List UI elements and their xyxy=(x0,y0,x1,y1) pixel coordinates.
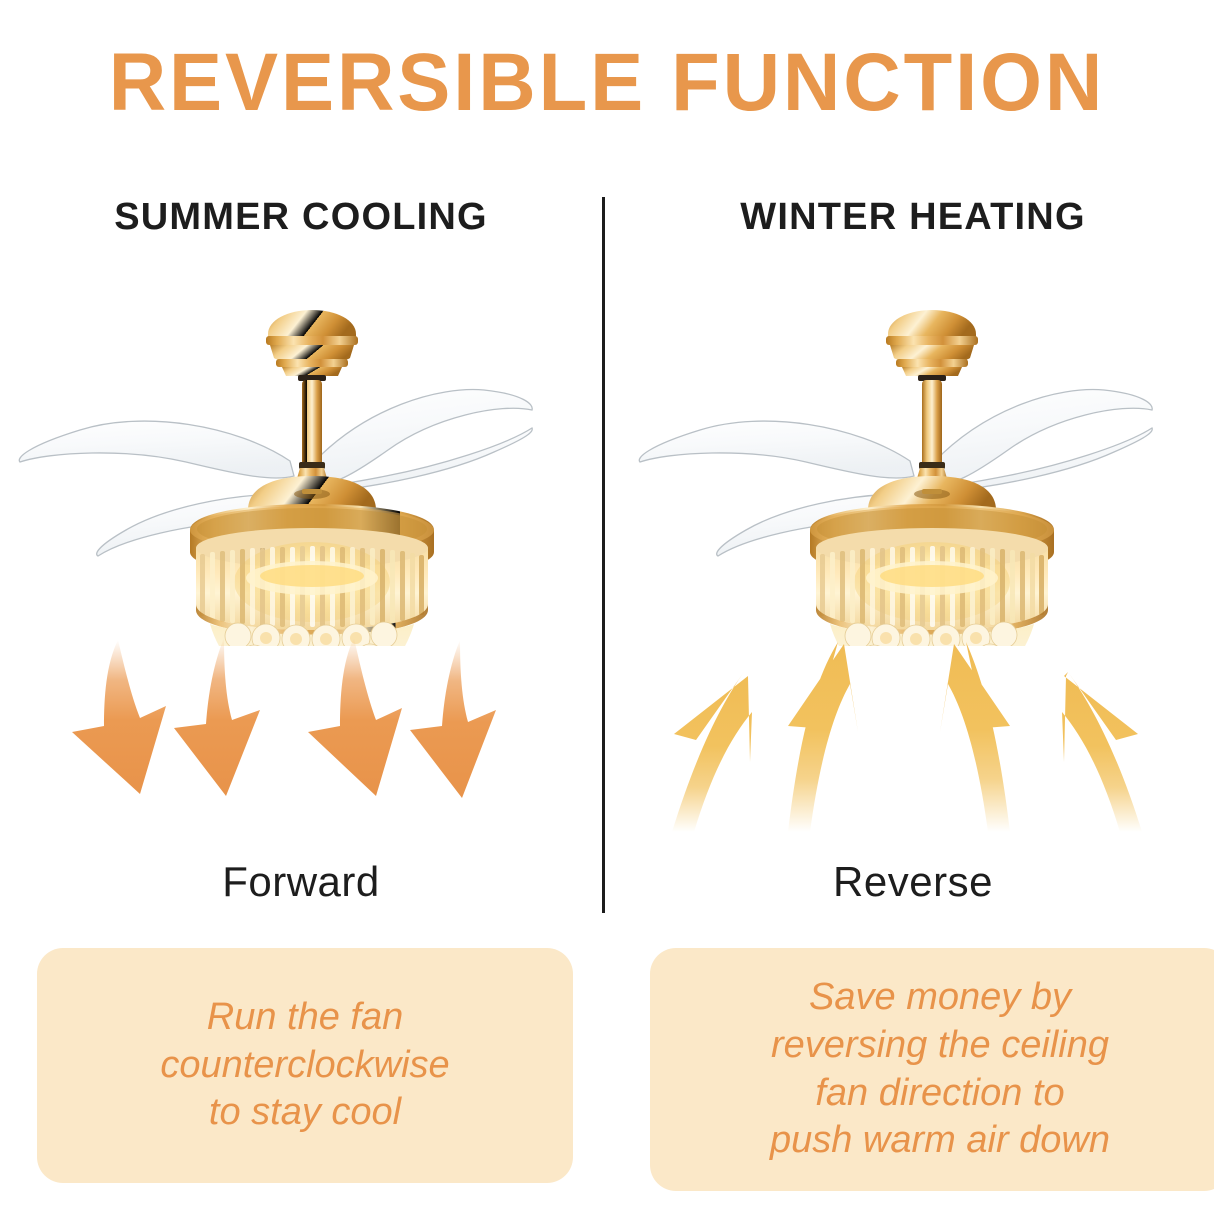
column-divider xyxy=(602,197,605,913)
arrow-up-group xyxy=(672,642,1142,832)
airflow-arrows-downward xyxy=(48,636,588,836)
fan-downrod xyxy=(302,380,322,466)
fan-downrod xyxy=(922,380,942,466)
infographic-page: REVERSIBLE FUNCTION SUMMER COOLING WINTE… xyxy=(0,0,1214,1214)
ceiling-fan-image-right xyxy=(634,286,1214,646)
caption-box-winter: Save money by reversing the ceiling fan … xyxy=(650,948,1214,1191)
direction-label-forward: Forward xyxy=(0,858,602,906)
section-heading-summer-cooling: SUMMER COOLING xyxy=(0,198,602,238)
arrow-down-group xyxy=(72,638,496,798)
fan-canopy xyxy=(266,310,358,381)
fan-crystal-drum xyxy=(190,504,434,636)
fan-canopy xyxy=(886,310,978,381)
airflow-arrows-upward xyxy=(648,636,1188,836)
section-heading-winter-heating: WINTER HEATING xyxy=(612,198,1214,238)
caption-text-winter: Save money by reversing the ceiling fan … xyxy=(770,974,1110,1166)
caption-text-summer: Run the fan counterclockwise to stay coo… xyxy=(160,994,449,1138)
direction-label-reverse: Reverse xyxy=(612,858,1214,906)
ceiling-fan-image-left xyxy=(14,286,594,646)
page-title: REVERSIBLE FUNCTION xyxy=(18,42,1196,124)
fan-crystal-drum xyxy=(810,504,1054,636)
caption-box-summer: Run the fan counterclockwise to stay coo… xyxy=(37,948,573,1183)
